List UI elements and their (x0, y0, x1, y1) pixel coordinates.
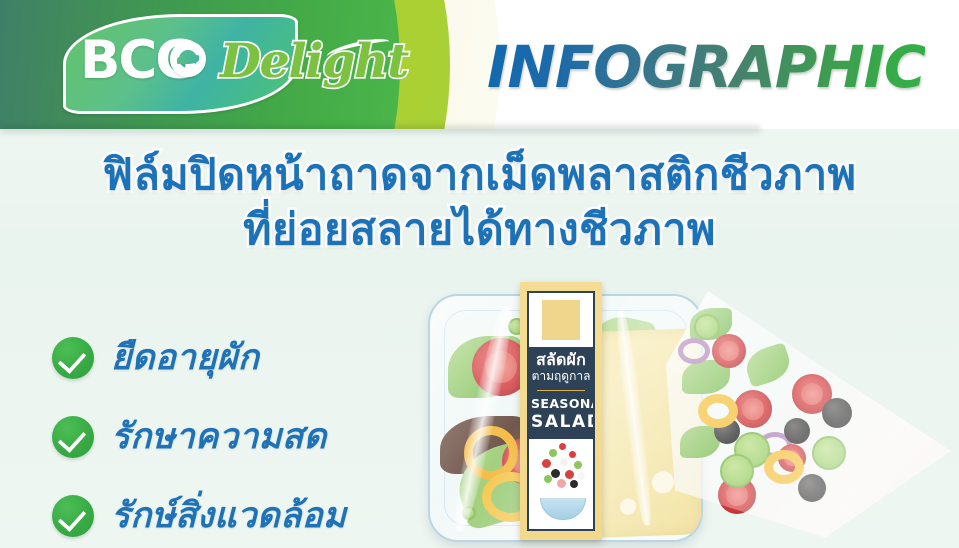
label-product-sub-th: ตามฤดูกาล (531, 370, 591, 384)
label-logo-swatch (542, 300, 580, 340)
label-title-panel: สลัดผัก ตามฤดูกาล SEASONAL SALAD (529, 347, 593, 439)
olive-icon (822, 398, 852, 428)
product-label: สลัดผัก ตามฤดูกาล SEASONAL SALAD (520, 282, 602, 540)
headline-line-1: ฟิล์มปิดหน้าถาดจากเม็ดพลาสติกชีวภาพ (0, 148, 959, 203)
salad-piece (560, 458, 568, 466)
peeled-film-illustration (660, 286, 959, 548)
salad-piece (551, 469, 560, 478)
check-circle-icon (52, 495, 94, 537)
salad-piece (574, 461, 582, 469)
salad-bowl-icon (540, 498, 586, 520)
label-product-name-th: สลัดผัก (531, 352, 591, 369)
olive-icon (798, 474, 826, 502)
header-shadow (0, 126, 760, 136)
list-item: รักษ์สิ่งแวดล้อม (52, 488, 346, 543)
benefits-list: ยืดอายุผัก รักษาความสด รักษ์สิ่งแวดล้อม (52, 330, 346, 543)
logo-wordmark-text: Delight (220, 34, 408, 89)
brand-logo: BCG Delight Delight (58, 8, 348, 120)
headline-line-2: ที่ย่อยสลายได้ทางชีวภาพ (0, 203, 959, 258)
label-divider (537, 390, 585, 392)
cucumber-slice-icon (694, 314, 720, 340)
page-title: INFOGRAPHIC (487, 33, 925, 101)
product-artwork: สลัดผัก ตามฤดูกาล SEASONAL SALAD (410, 282, 959, 548)
bell-pepper-ring-icon (698, 394, 738, 428)
bell-pepper-ring-icon (764, 450, 804, 484)
salad-piece (549, 449, 557, 457)
salad-piece (570, 480, 578, 488)
salad-piece (565, 470, 574, 479)
benefit-label: รักษาความสด (111, 409, 327, 464)
benefit-label: ยืดอายุผัก (111, 330, 259, 385)
headline: ฟิล์มปิดหน้าถาดจากเม็ดพลาสติกชีวภาพ ที่ย… (0, 148, 959, 258)
label-card: สลัดผัก ตามฤดูกาล SEASONAL SALAD (527, 291, 595, 531)
label-logo-area (529, 293, 593, 347)
salad-piece (557, 479, 566, 488)
label-product-name-en-1: SEASONAL (531, 396, 591, 411)
salad-piece (559, 443, 566, 450)
tomato-slice-icon (712, 334, 746, 368)
logo-seed-icon (177, 55, 199, 64)
onion-ring-icon (678, 338, 710, 364)
salad-piece (577, 472, 585, 480)
infographic-poster: BCG Delight Delight INFOGRAPHIC ฟิล์มปิด… (0, 0, 959, 548)
olive-icon (784, 418, 810, 444)
cucumber-slice-icon (812, 436, 846, 470)
label-product-name-en-2: SALAD (531, 412, 591, 432)
salad-piece (569, 451, 576, 458)
dressing-highlight (620, 498, 636, 515)
check-circle-icon (52, 416, 94, 458)
list-item: รักษาความสด (52, 409, 346, 464)
label-salad-photo (529, 439, 593, 529)
tomato-slice-icon (734, 390, 772, 428)
benefit-label: รักษ์สิ่งแวดล้อม (111, 488, 346, 543)
list-item: ยืดอายุผัก (52, 330, 346, 385)
cucumber-slice-icon (720, 454, 754, 488)
salad-piece (544, 475, 552, 483)
salad-piece (542, 459, 551, 468)
check-circle-icon (52, 337, 94, 379)
